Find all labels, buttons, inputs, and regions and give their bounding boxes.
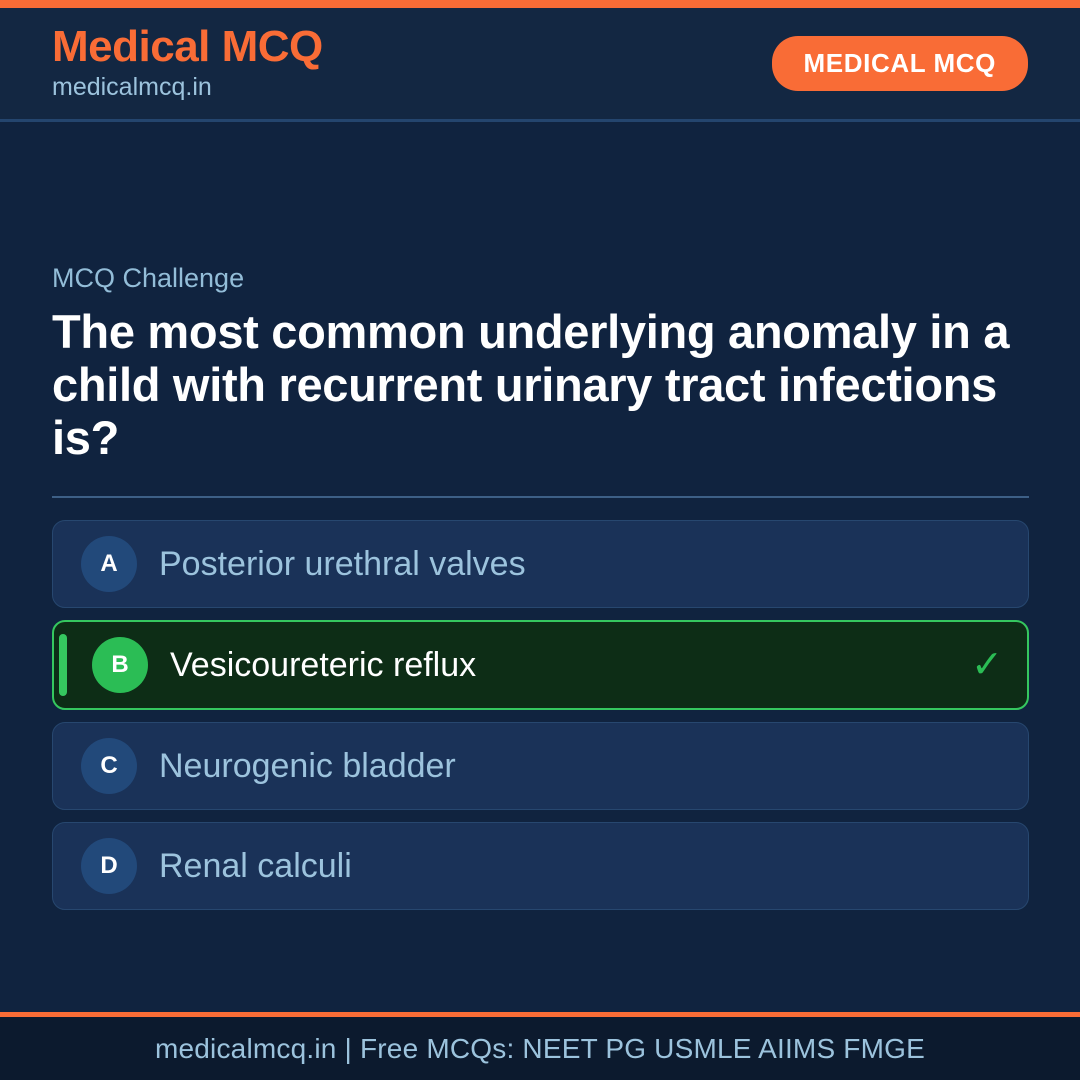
- option-d[interactable]: D Renal calculi: [52, 822, 1029, 910]
- option-label: Renal calculi: [159, 846, 988, 887]
- brand: Medical MCQ medicalmcq.in: [52, 24, 323, 104]
- correct-accent-bar: [59, 634, 67, 696]
- footer: medicalmcq.in | Free MCQs: NEET PG USMLE…: [0, 1012, 1080, 1080]
- check-icon: ✓: [971, 646, 1003, 684]
- option-letter-badge: C: [81, 738, 137, 794]
- option-letter-badge: B: [92, 637, 148, 693]
- eyebrow-label: MCQ Challenge: [52, 262, 1028, 294]
- option-b[interactable]: B Vesicoureteric reflux ✓: [52, 620, 1029, 710]
- brand-subtitle: medicalmcq.in: [52, 72, 323, 103]
- main-content: MCQ Challenge The most common underlying…: [0, 122, 1080, 1012]
- option-label: Vesicoureteric reflux: [170, 645, 955, 686]
- brand-title: Medical MCQ: [52, 24, 323, 71]
- question-divider: [52, 496, 1029, 498]
- options-list: A Posterior urethral valves B Vesicouret…: [52, 520, 1028, 910]
- option-letter-badge: A: [81, 536, 137, 592]
- footer-text: medicalmcq.in | Free MCQs: NEET PG USMLE…: [155, 1033, 925, 1065]
- mcq-card: Medical MCQ medicalmcq.in MEDICAL MCQ MC…: [0, 0, 1080, 1080]
- header: Medical MCQ medicalmcq.in MEDICAL MCQ: [0, 8, 1080, 122]
- question-text: The most common underlying anomaly in a …: [52, 306, 1028, 464]
- option-c[interactable]: C Neurogenic bladder: [52, 722, 1029, 810]
- header-badge: MEDICAL MCQ: [772, 36, 1028, 91]
- top-accent-bar: [0, 0, 1080, 8]
- option-label: Neurogenic bladder: [159, 746, 988, 787]
- option-a[interactable]: A Posterior urethral valves: [52, 520, 1029, 608]
- option-label: Posterior urethral valves: [159, 544, 988, 585]
- option-letter-badge: D: [81, 838, 137, 894]
